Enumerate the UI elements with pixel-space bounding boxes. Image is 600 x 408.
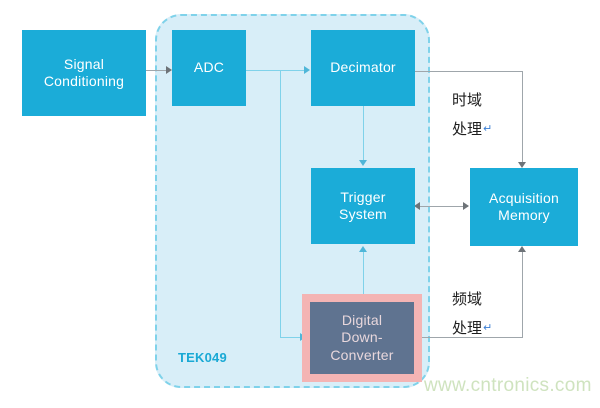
connector-ddc-to-memory-vertical [522,252,523,337]
block-digital-down-converter[interactable]: Digital Down- Converter [302,294,422,382]
arrowhead-ddc-to-trigger [359,246,367,252]
arrowhead-ddc-to-memory [518,246,526,252]
block-ddc-line3: Converter [326,347,397,365]
block-trigger-system-line1: Trigger [335,189,391,207]
block-acquisition-memory-line1: Acquisition [485,190,563,208]
block-signal-conditioning-line1: Signal [40,56,128,74]
pilcrow-icon: ↵ [483,321,492,334]
connector-trigger-memory [418,206,468,207]
annotation-time-domain-line1: 时域 [452,86,492,115]
block-ddc-line1: Digital [326,312,397,330]
connector-ddc-to-trigger [363,250,364,296]
annotation-time-domain-line2: 处理↵ [452,115,492,144]
arrowhead-decimator-to-trigger [359,160,367,166]
annotation-frequency-domain: 频域 处理↵ [452,285,492,342]
connector-signal-to-adc [146,70,168,71]
block-adc-line1: ADC [190,59,228,77]
connector-decimator-to-trigger [363,106,364,162]
annotation-time-domain: 时域 处理↵ [452,86,492,143]
annotation-frequency-domain-line2: 处理↵ [452,314,492,343]
watermark: www.cntronics.com [424,375,592,397]
connector-decimator-to-memory-horizontal [415,71,523,72]
pilcrow-icon: ↵ [483,122,492,135]
connector-decimator-to-memory-vertical [522,71,523,164]
arrowhead-adc-to-decimator [304,66,310,74]
block-decimator[interactable]: Decimator [311,30,415,106]
annotation-frequency-domain-line1: 频域 [452,285,492,314]
block-decimator-line1: Decimator [326,59,400,77]
arrowhead-trigger-to-memory [463,202,469,210]
tek049-label: TEK049 [178,350,227,365]
block-acquisition-memory[interactable]: Acquisition Memory [470,168,578,246]
block-adc[interactable]: ADC [172,30,246,106]
block-acquisition-memory-line2: Memory [485,207,563,225]
block-signal-conditioning-line2: Conditioning [40,73,128,91]
connector-adc-branch-vertical [280,70,281,337]
block-trigger-system-line2: System [335,206,391,224]
diagram-canvas: TEK049 Signal Conditioning ADC De [0,0,600,408]
block-trigger-system[interactable]: Trigger System [311,168,415,244]
block-signal-conditioning[interactable]: Signal Conditioning [22,30,146,116]
connector-adc-to-decimator [246,70,305,71]
block-ddc-line2: Down- [326,329,397,347]
